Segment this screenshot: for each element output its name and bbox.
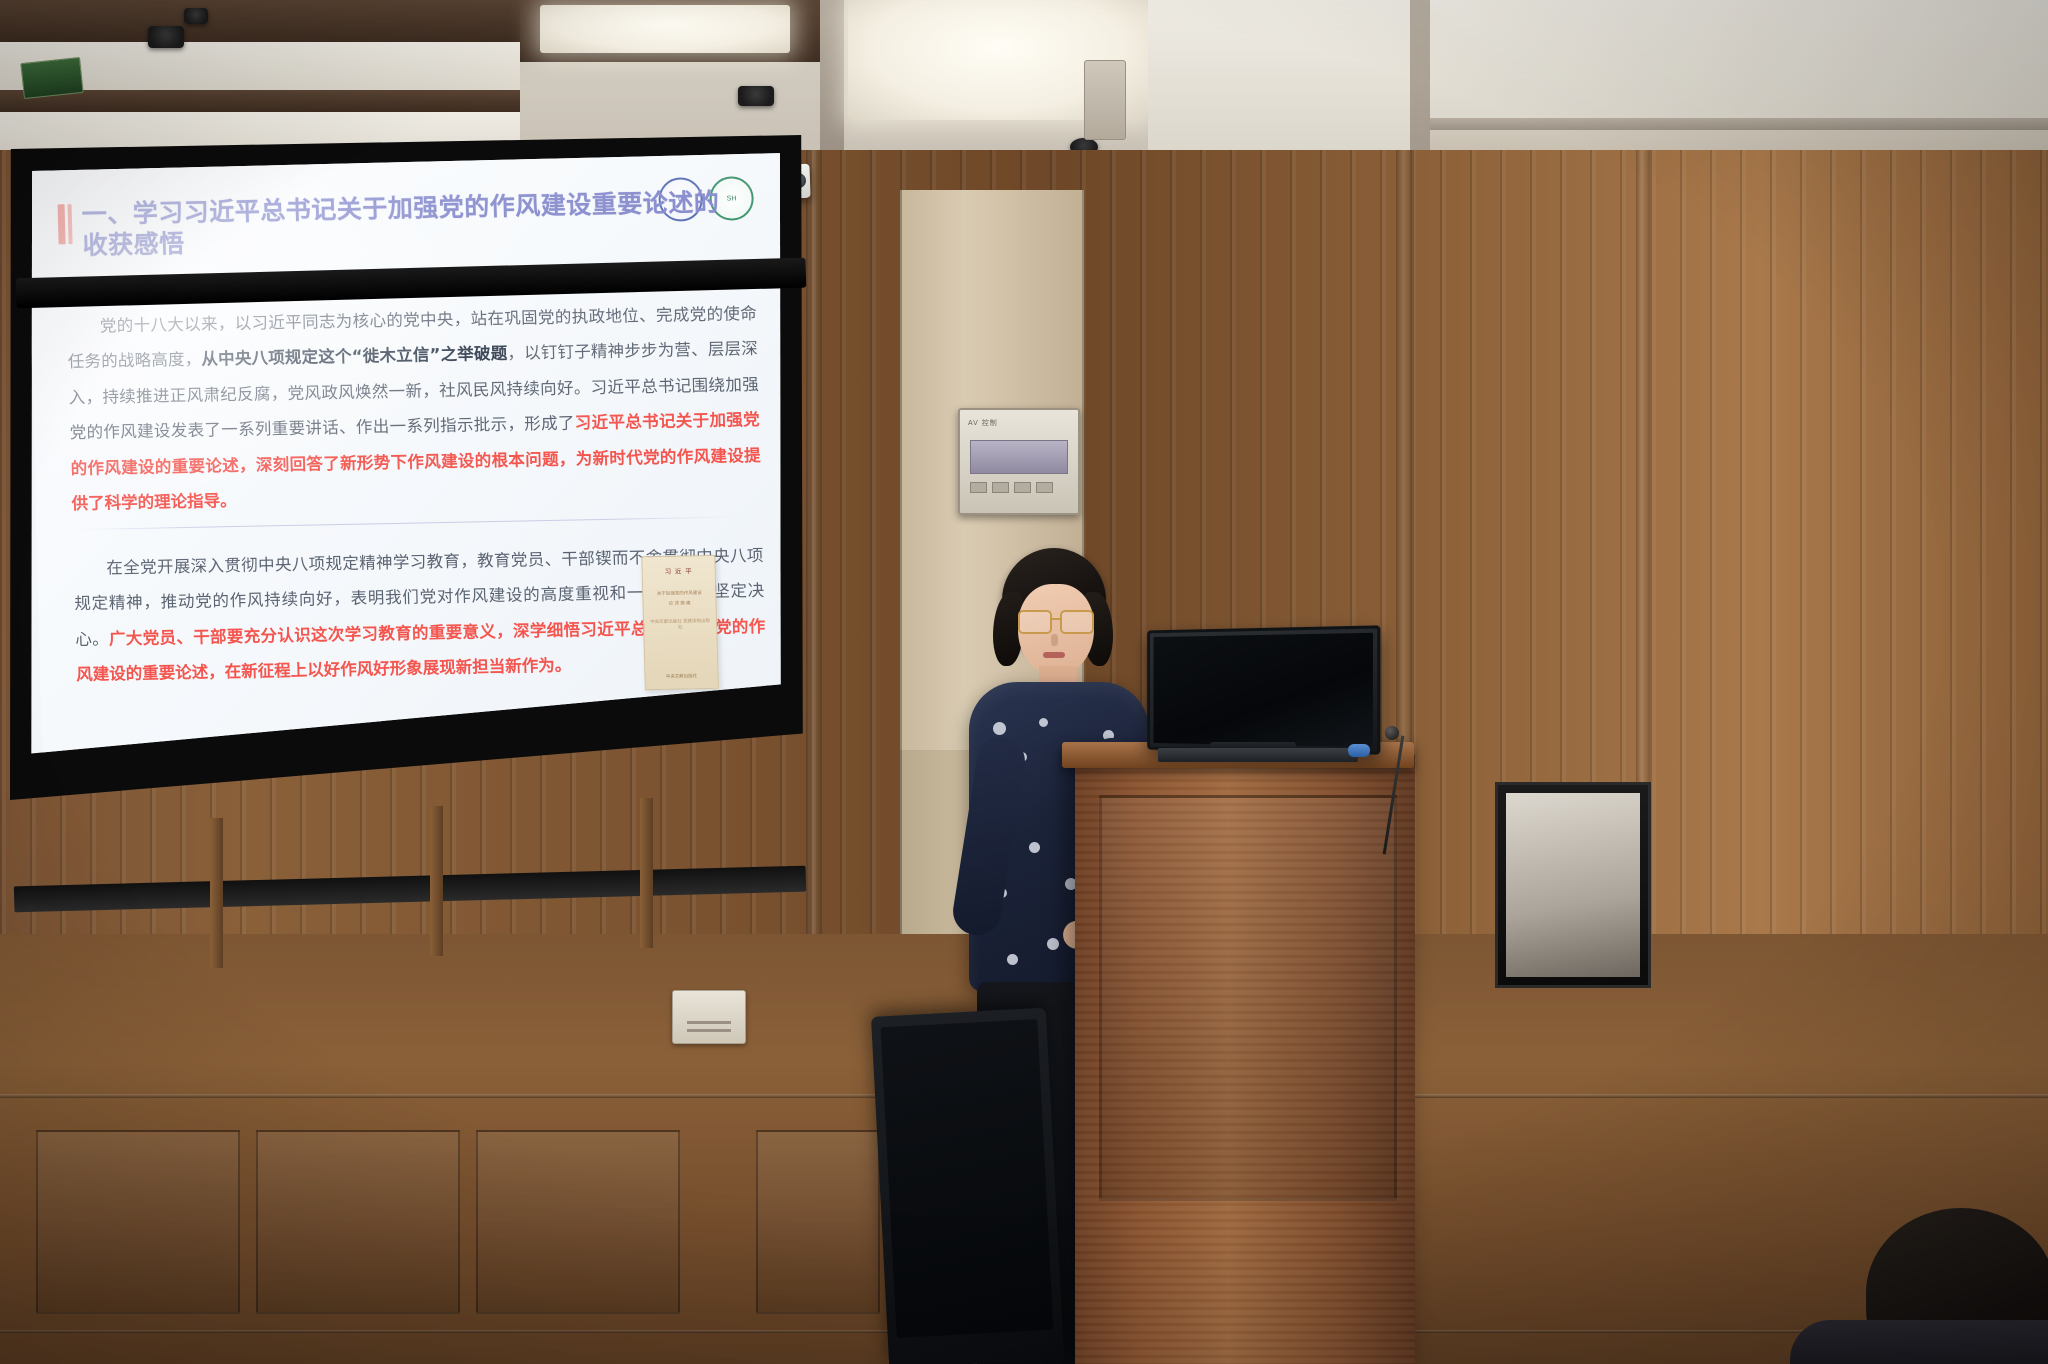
av-panel-label: AV 控制 [968,418,998,428]
conference-room-scene: AV 控制 CNV U SH [0,0,2048,1364]
wall-av-control-panel[interactable]: AV 控制 [958,408,1080,515]
keyboard[interactable] [1158,748,1358,762]
slide-title-row: 一、学习习近平总书记关于加强党的作风建设重要论述的收获感悟 [57,187,723,262]
screen-surface: U SH 一、学习习近平总书记关于加强党的作风建设重要论述的收获感悟 [26,148,786,788]
p1-seg-1: 从中央八项规定这个“徙木立信”之举破题 [201,344,508,369]
podium-monitor[interactable] [1147,625,1380,754]
presenter-mouth [1043,652,1065,658]
av-panel-buttons[interactable] [970,482,1053,493]
screen-support-leg-3 [640,798,653,948]
screen-support-leg [210,818,223,968]
screen-support-leg-2 [430,806,443,956]
exit-sign [20,57,83,99]
wall-picture-image [1506,793,1640,977]
book-cover-title: 习 近 平 [643,566,715,578]
foreground-audience-shoulder [1790,1320,2048,1364]
laptop-screen [880,1019,1053,1338]
wall-picture-frame [1495,782,1651,988]
presentation-slide: U SH 一、学习习近平总书记关于加强党的作风建设重要论述的收获感悟 [26,148,786,788]
wall-power-socket[interactable] [672,990,746,1044]
podium-front-panel [1099,795,1397,1201]
ceiling-speaker [1084,60,1126,140]
slide-paragraph-1: 党的十八大以来，以习近平同志为核心的党中央，站在巩固党的执政地位、完成党的使命任… [66,296,762,522]
ceiling-spotlight [148,26,184,48]
monitor-screen [1154,633,1373,747]
title-accent-bars-icon [58,204,73,244]
presenter-glasses-icon [1017,610,1095,632]
book-cover-subtitle-2: 论 述 摘 编 [649,600,709,607]
ceiling-spotlight-2 [184,8,208,24]
book-cover-publisher-line: 中央文献出版社 党建读物出版社 [650,618,710,631]
book-cover-thumbnail: 习 近 平 关于加强党的作风建设 论 述 摘 编 中央文献出版社 党建读物出版社… [641,555,719,690]
book-cover-footer: 中央文献出版社 [645,673,717,680]
podium [1075,755,1415,1364]
foreground-laptop[interactable] [871,1008,1064,1364]
book-cover-subtitle: 关于加强党的作风建设 [649,590,709,597]
projection-screen: U SH 一、学习习近平总书记关于加强党的作风建设重要论述的收获感悟 [6,128,806,828]
mouse[interactable] [1348,744,1370,757]
ceiling-spotlight-3 [738,86,774,106]
slide-paragraph-1-box: 党的十八大以来，以习近平同志为核心的党中央，站在巩固党的执政地位、完成党的使命任… [66,296,762,522]
slide-title: 一、学习习近平总书记关于加强党的作风建设重要论述的收获感悟 [81,187,723,262]
microphone-icon [1385,726,1399,740]
av-panel-display [970,440,1068,474]
ceiling-light [540,5,790,53]
